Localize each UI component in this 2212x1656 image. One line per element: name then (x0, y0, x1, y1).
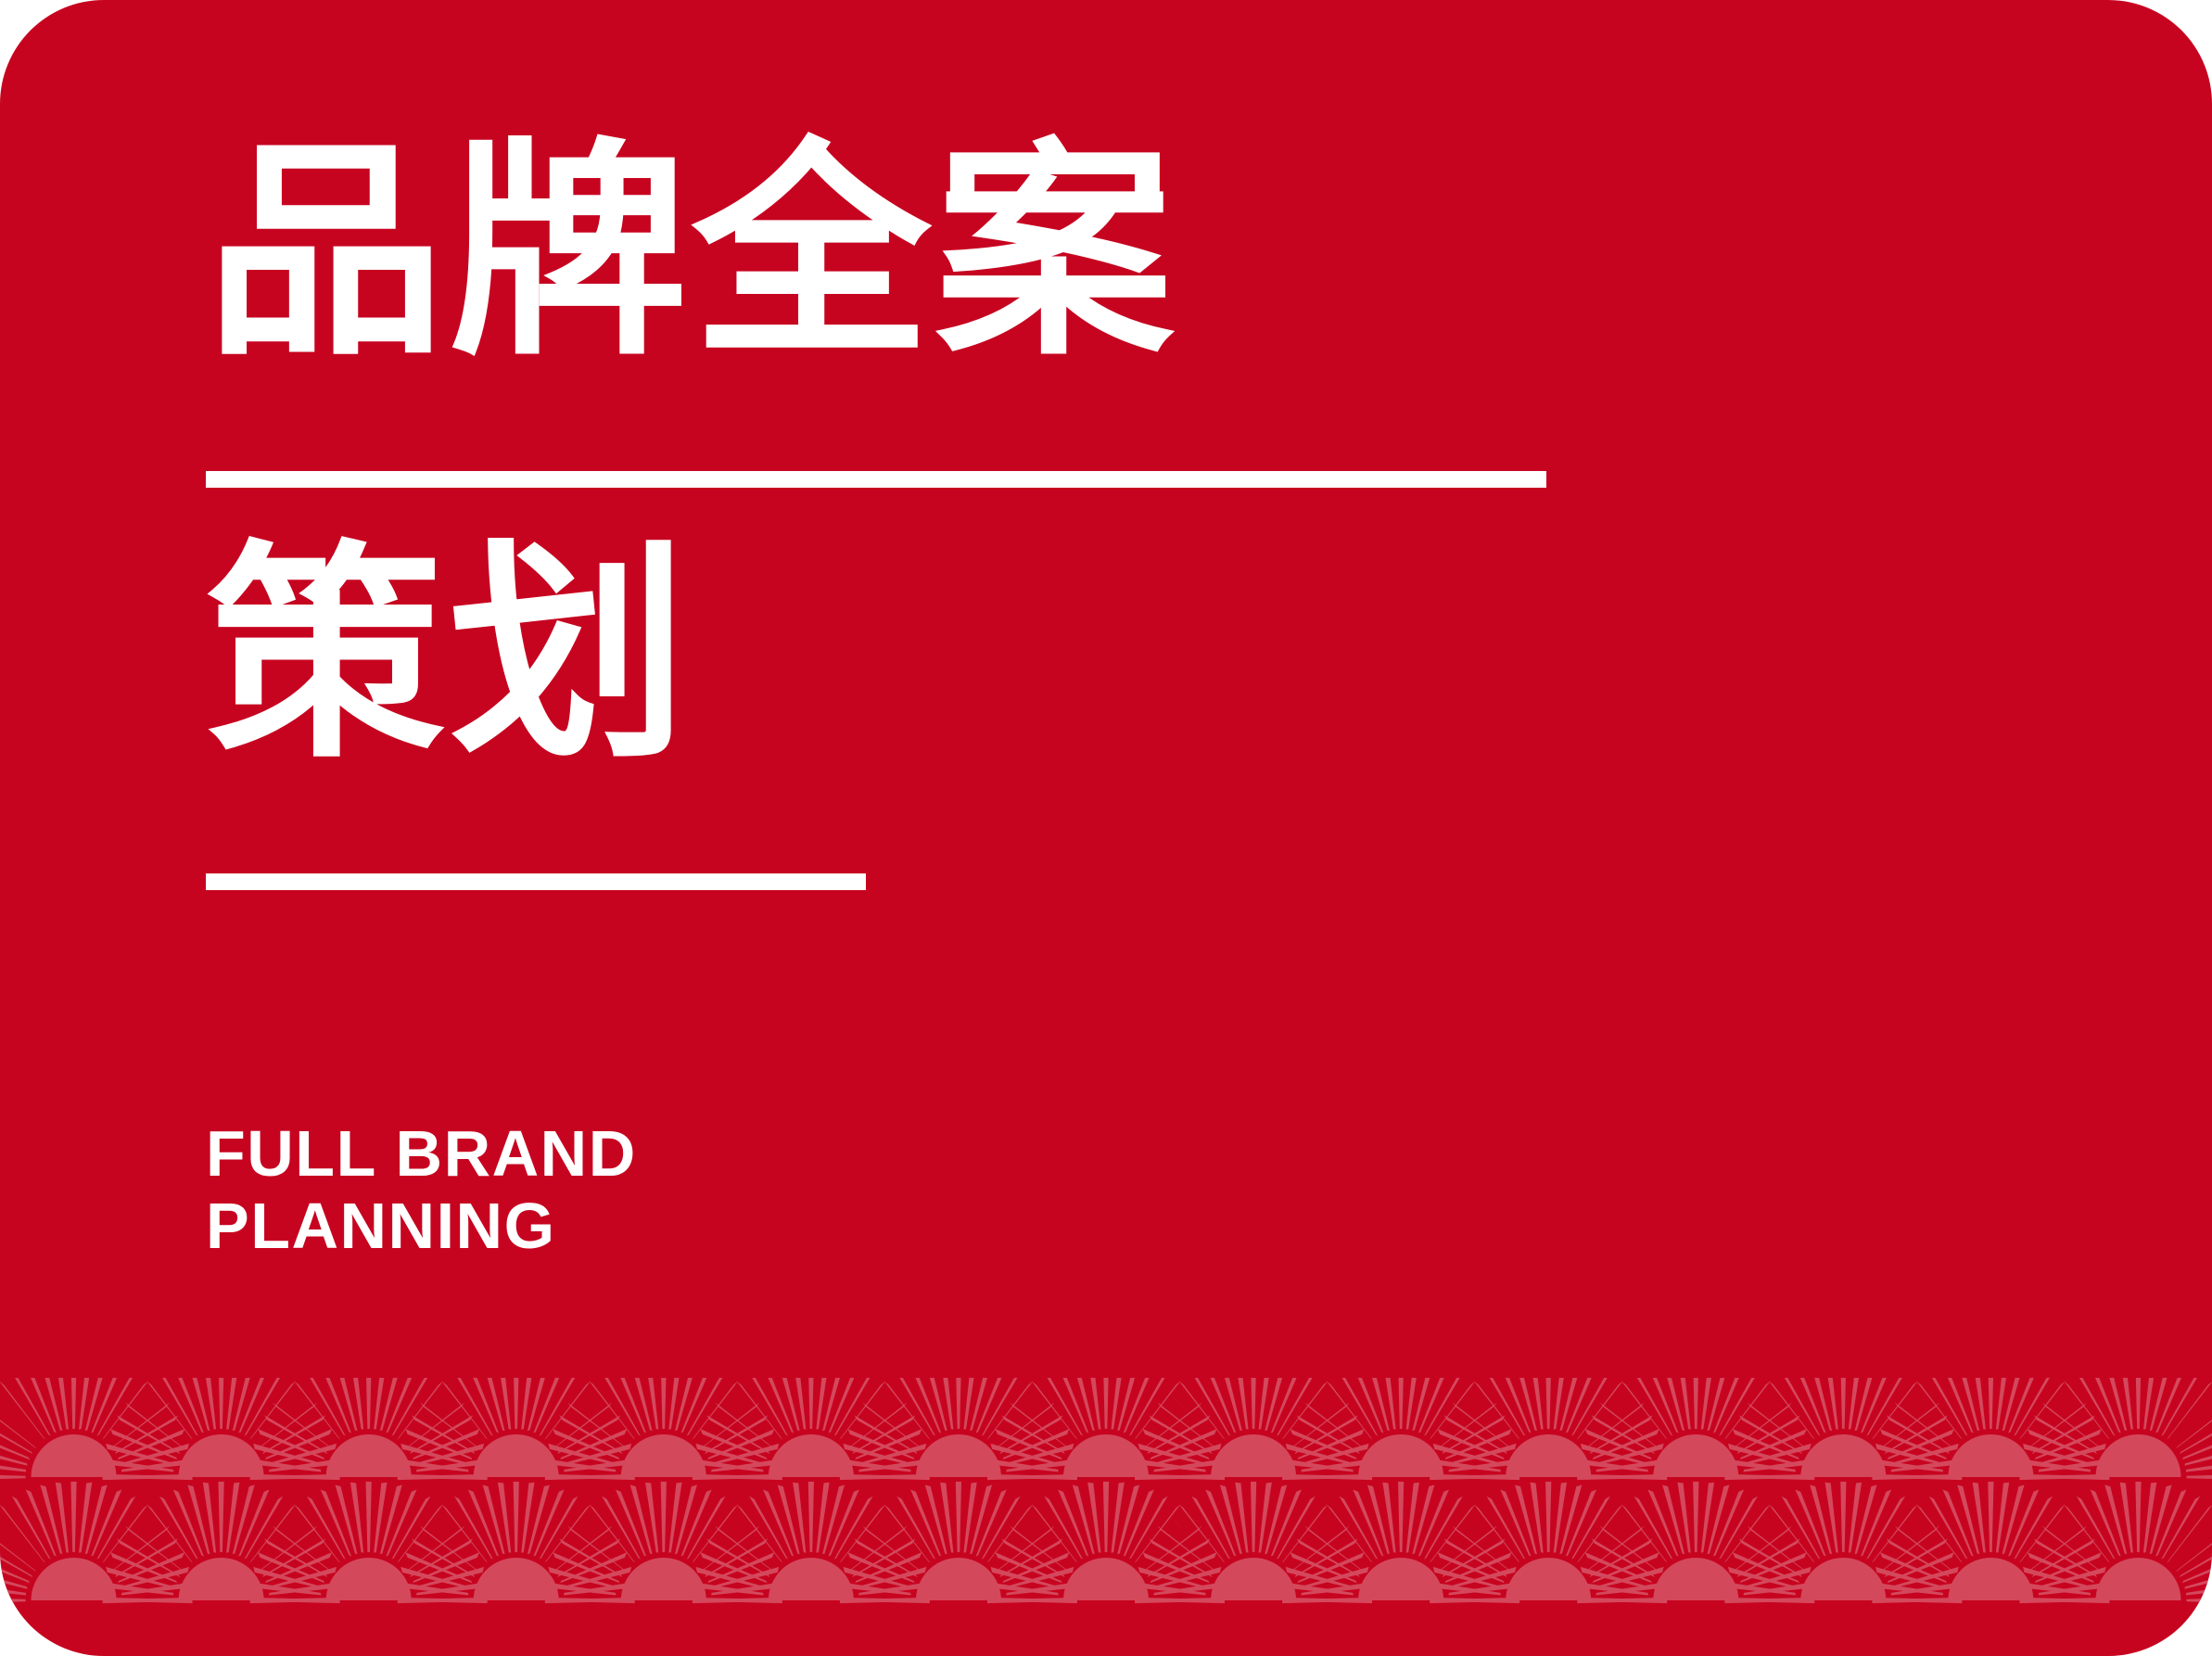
sunburst-unit (987, 1378, 1225, 1480)
poster-canvas: 品牌全案 策划 FULL BRAND PLANNING (0, 0, 2212, 1656)
sunburst-unit (1430, 1378, 1667, 1480)
sunburst-unit (250, 1378, 488, 1480)
sunburst-unit (0, 1482, 193, 1603)
subtitle-line-1: FULL BRAND (206, 1117, 637, 1190)
sunburst-unit (2019, 1482, 2212, 1603)
sunburst-unit (103, 1482, 340, 1603)
sunburst-unit (545, 1482, 782, 1603)
sunburst-unit (1135, 1378, 1372, 1480)
sunburst-unit (398, 1378, 635, 1480)
sunburst-unit (987, 1482, 1225, 1603)
sunburst-unit (1724, 1378, 1962, 1480)
sunburst-unit (250, 1482, 488, 1603)
subtitle-line-2: PLANNING (206, 1190, 637, 1262)
sunburst-unit (1872, 1378, 2109, 1480)
sunburst-border-pattern (0, 1378, 2212, 1656)
sunburst-unit (840, 1482, 1077, 1603)
sunburst-unit (1872, 1482, 2109, 1603)
divider-rule-upper (206, 471, 1546, 488)
sunburst-unit (0, 1378, 193, 1480)
headline-line-primary: 品牌全案 (206, 137, 2038, 378)
subtitle-block: FULL BRAND PLANNING (206, 1117, 637, 1263)
sunburst-unit (398, 1482, 635, 1603)
sunburst-unit (1282, 1378, 1519, 1480)
sunburst-icon (0, 1378, 2212, 1656)
sunburst-unit (1577, 1482, 1814, 1603)
sunburst-unit (693, 1378, 930, 1480)
headline-block: 品牌全案 策划 (206, 137, 1967, 890)
sunburst-unit (693, 1482, 930, 1603)
sunburst-unit (1577, 1378, 1814, 1480)
sunburst-unit (1430, 1482, 1667, 1603)
sunburst-unit (1724, 1482, 1962, 1603)
sunburst-unit (1135, 1482, 1372, 1603)
sunburst-unit (840, 1378, 1077, 1480)
divider-rule-lower (206, 873, 866, 890)
sunburst-unit (103, 1378, 340, 1480)
sunburst-unit (545, 1378, 782, 1480)
headline-line-secondary: 策划 (206, 540, 2038, 781)
sunburst-unit (2019, 1378, 2212, 1480)
sunburst-unit (1282, 1482, 1519, 1603)
